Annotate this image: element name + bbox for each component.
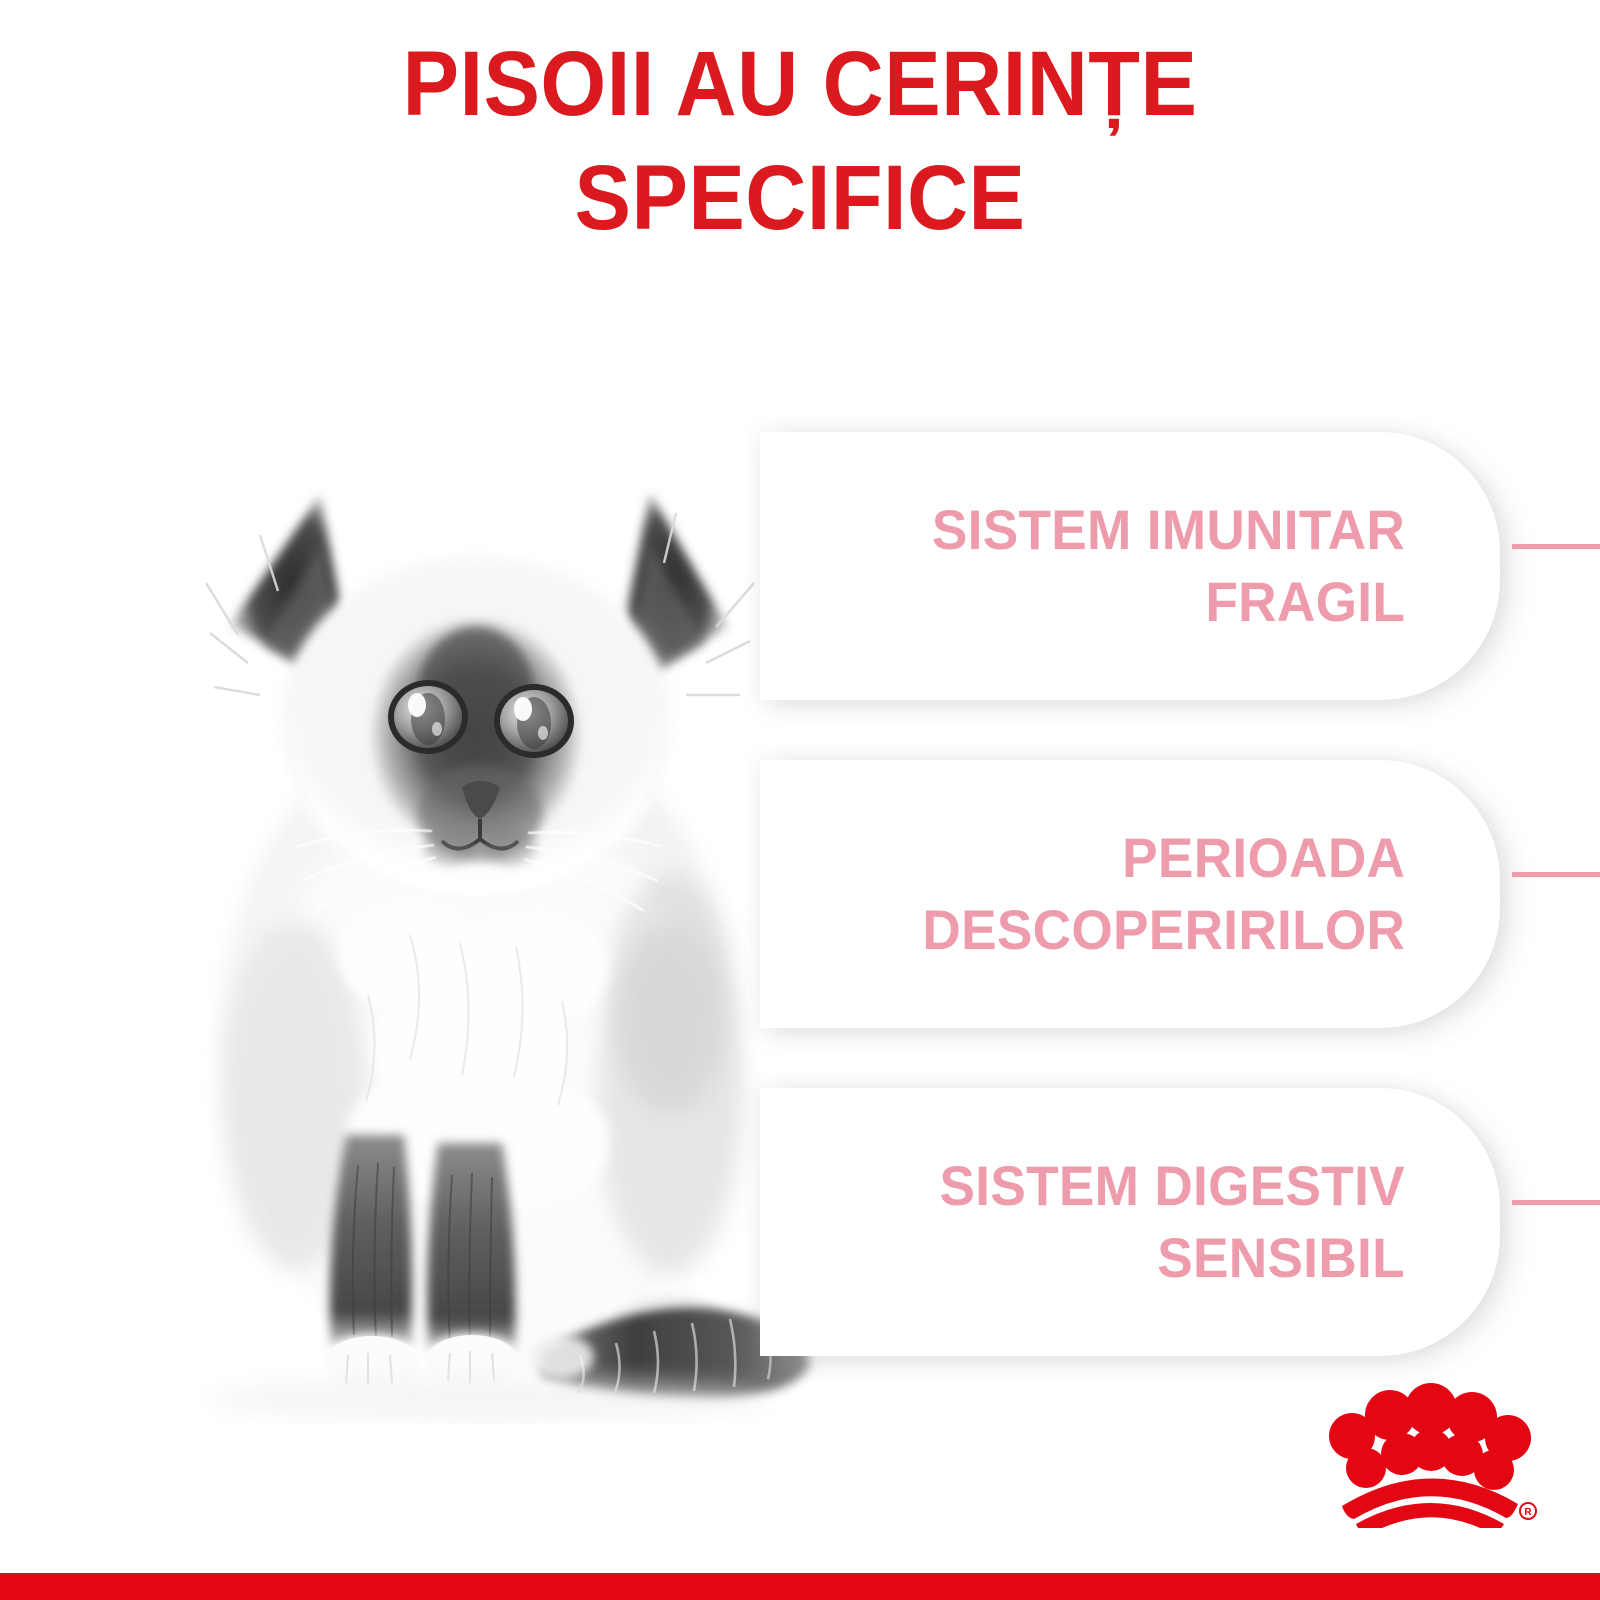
footer-red-bar xyxy=(0,1573,1600,1600)
callout-card-digestive[interactable]: SISTEM DIGESTIV SENSIBIL xyxy=(760,1088,1500,1356)
page-title-line-1: PISOII AU CERINȚE xyxy=(64,38,1536,130)
registered-trademark-icon: R xyxy=(1520,1503,1536,1519)
connector-line-immune xyxy=(1512,544,1600,549)
callout-text-discovery: PERIOADA DESCOPERIRILOR xyxy=(922,822,1500,965)
kitten-photo xyxy=(110,395,850,1425)
connector-line-digestive xyxy=(1512,1200,1600,1205)
callout-card-discovery[interactable]: PERIOADA DESCOPERIRILOR xyxy=(760,760,1500,1028)
callout-text-digestive: SISTEM DIGESTIV SENSIBIL xyxy=(940,1150,1500,1293)
callout-card-immune[interactable]: SISTEM IMUNITAR FRAGIL xyxy=(760,432,1500,700)
page-title-line-2: SPECIFICE xyxy=(64,152,1536,244)
callout-text-immune: SISTEM IMUNITAR FRAGIL xyxy=(932,494,1500,637)
connector-line-discovery xyxy=(1512,872,1600,877)
page-title: PISOII AU CERINȚE SPECIFICE xyxy=(0,38,1600,244)
svg-text:R: R xyxy=(1524,1507,1532,1518)
royal-canin-crown-icon: R xyxy=(1312,1378,1542,1528)
infographic-page: PISOII AU CERINȚE SPECIFICE xyxy=(0,0,1600,1600)
